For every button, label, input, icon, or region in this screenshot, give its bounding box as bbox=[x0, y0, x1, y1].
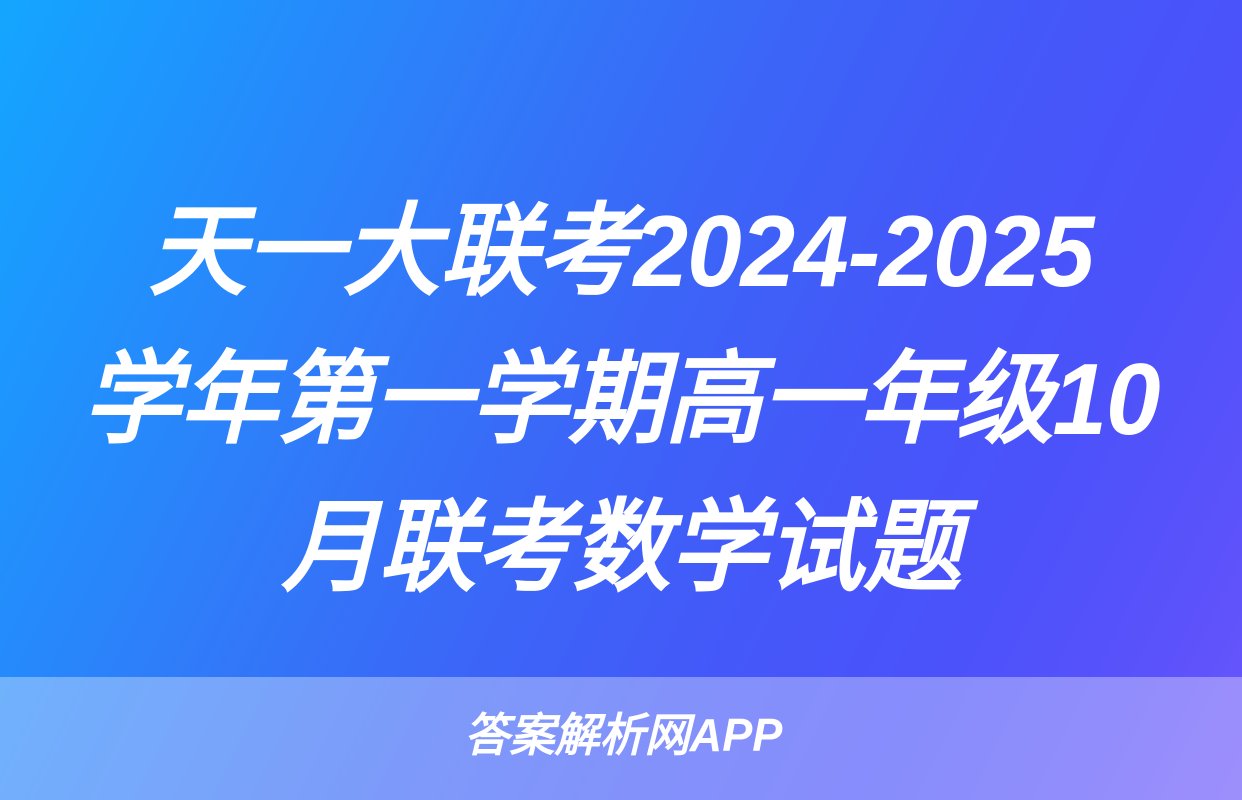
exam-paper-cover-poster: 天一大联考2024-2025 学年第一学期高一年级10 月联考数学试题 答案解析… bbox=[0, 0, 1242, 800]
page-title: 天一大联考2024-2025 学年第一学期高一年级10 月联考数学试题 bbox=[0, 178, 1242, 622]
app-watermark: 答案解析网APP bbox=[0, 707, 1242, 763]
app-watermark-label: 答案解析网APP bbox=[464, 707, 782, 763]
title-line-3: 月联考数学试题 bbox=[57, 474, 1184, 622]
title-line-2: 学年第一学期高一年级10 bbox=[57, 326, 1184, 474]
title-line-1: 天一大联考2024-2025 bbox=[57, 178, 1184, 326]
